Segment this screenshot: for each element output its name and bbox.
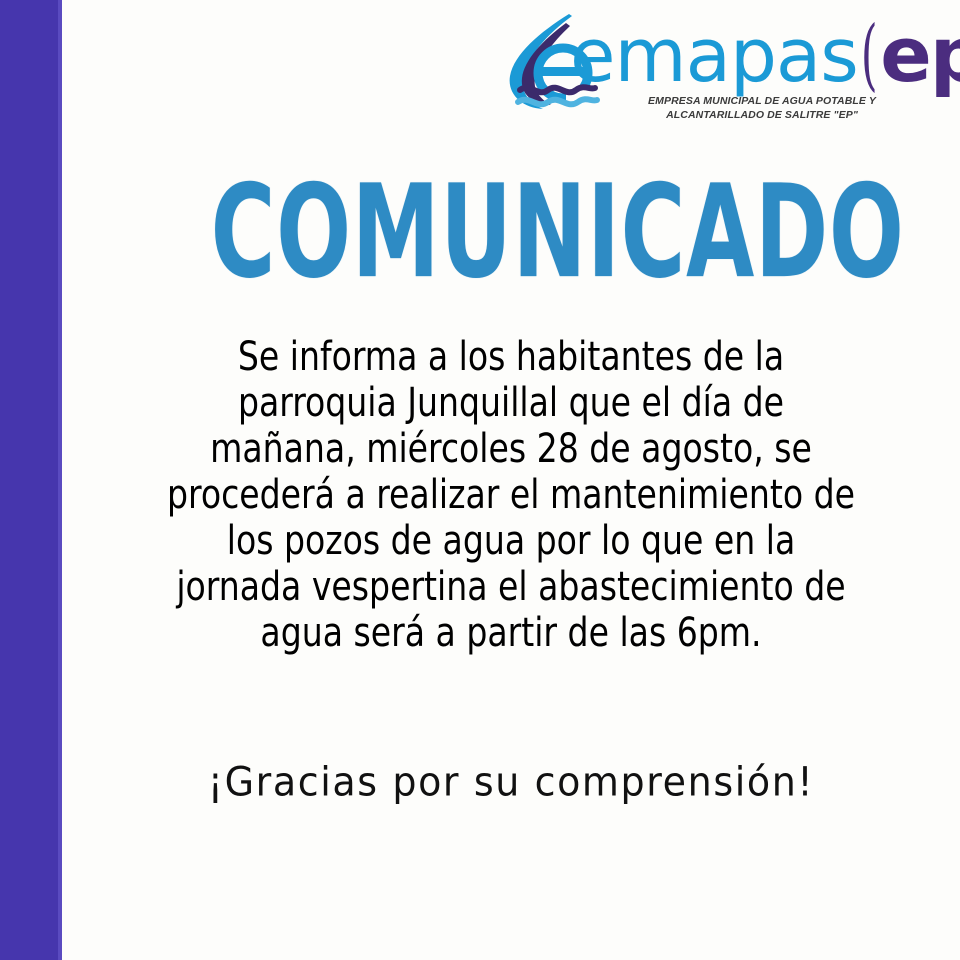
page-title-text: COMUNICADO [211,168,905,297]
announcement-line: Se informa a los habitantes de la [107,334,915,380]
announcement-line: agua será a partir de las 6pm. [107,610,915,656]
announcement-line: mañana, miércoles 28 de agosto, se [107,426,915,472]
left-purple-band [0,0,62,960]
poster-canvas: emapas(ep EMPRESA MUNICIPAL DE AGUA POTA… [62,0,960,960]
logo-word-ep: ep [880,17,960,93]
logo-word-emapas: emapas [570,19,858,93]
closing-message-text: ¡Gracias por su comprensión! [208,761,815,805]
announcement-line: los pozos de agua por lo que en la [107,518,915,564]
announcement-body: Se informa a los habitantes de la parroq… [72,334,950,656]
announcement-line: jornada vespertina el abastecimiento de [107,564,915,610]
logo-wordmark: emapas(ep [570,16,960,100]
announcement-line: procederá a realizar el mantenimiento de [107,472,915,518]
logo-tagline-line-2: ALCANTARILLADO DE SALITRE "EP" [612,108,912,122]
logo-tagline-line-1: EMPRESA MUNICIPAL DE AGUA POTABLE Y [612,94,912,108]
page-title: COMUNICADO [62,168,960,294]
emapas-logo: emapas(ep EMPRESA MUNICIPAL DE AGUA POTA… [496,8,946,130]
closing-message: ¡Gracias por su comprensión! [72,762,950,804]
logo-tagline: EMPRESA MUNICIPAL DE AGUA POTABLE Y ALCA… [612,94,912,122]
announcement-line: parroquia Junquillal que el día de [107,380,915,426]
logo-separator-slash: ( [861,16,878,94]
comunicado-poster: emapas(ep EMPRESA MUNICIPAL DE AGUA POTA… [0,0,960,960]
